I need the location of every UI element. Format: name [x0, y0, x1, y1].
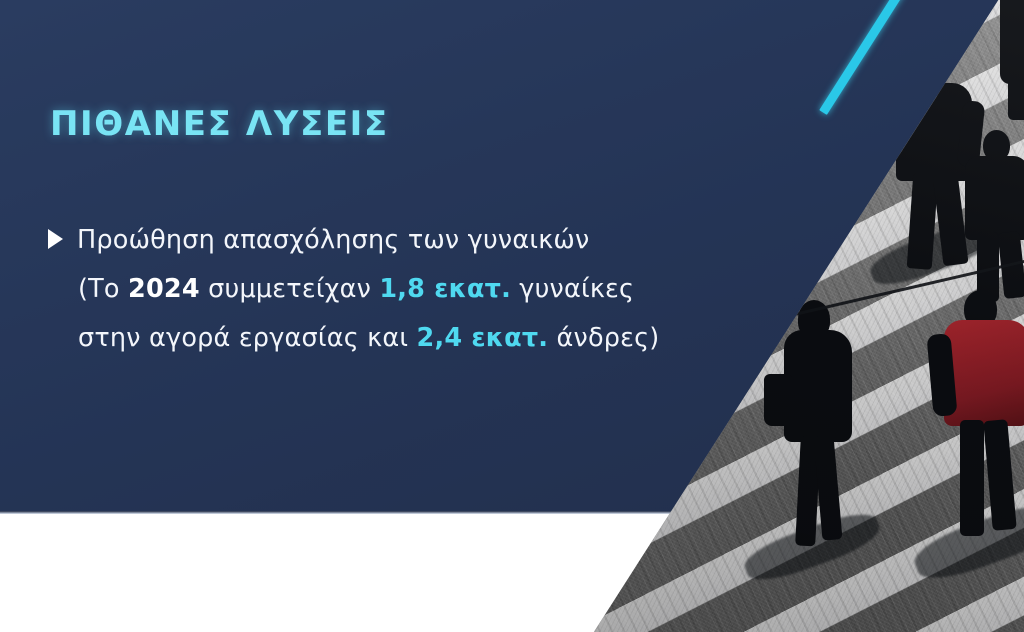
bullet-line-primary: Προώθηση απασχόλησης των γυναικών [77, 216, 748, 265]
bullet-line-secondary: (Το 2024 συμμετείχαν 1,8 εκατ. γυναίκες [78, 265, 748, 314]
triangle-right-icon [48, 229, 63, 249]
bullet-item: Προώθηση απασχόλησης των γυναικών (Το 20… [48, 216, 748, 363]
line3-men-figure: 2,4 εκατ. [417, 323, 549, 353]
line2-suffix-text: γυναίκες [511, 274, 634, 304]
line2-women-figure: 1,8 εκατ. [379, 274, 511, 304]
line2-year-value: 2024 [128, 274, 200, 304]
presentation-slide: ΠΙΘΑΝΕΣ ΛΥΣΕΙΣ Προώθηση απασχόλησης των … [0, 0, 1024, 632]
line2-middle-text: συμμετείχαν [200, 274, 380, 304]
slide-content: ΠΙΘΑΝΕΣ ΛΥΣΕΙΣ Προώθηση απασχόλησης των … [0, 0, 760, 513]
line3-suffix-text: άνδρες) [548, 323, 659, 353]
bullet-text-block: Προώθηση απασχόλησης των γυναικών (Το 20… [77, 216, 748, 363]
line3-prefix-text: στην αγορά εργασίας και [78, 323, 417, 353]
bullet-line-tertiary: στην αγορά εργασίας και 2,4 εκατ. άνδρες… [78, 314, 748, 363]
bullet-list: Προώθηση απασχόλησης των γυναικών (Το 20… [48, 216, 748, 363]
line2-prefix-text: (Το [78, 274, 128, 304]
slide-title: ΠΙΘΑΝΕΣ ΛΥΣΕΙΣ [50, 104, 389, 144]
